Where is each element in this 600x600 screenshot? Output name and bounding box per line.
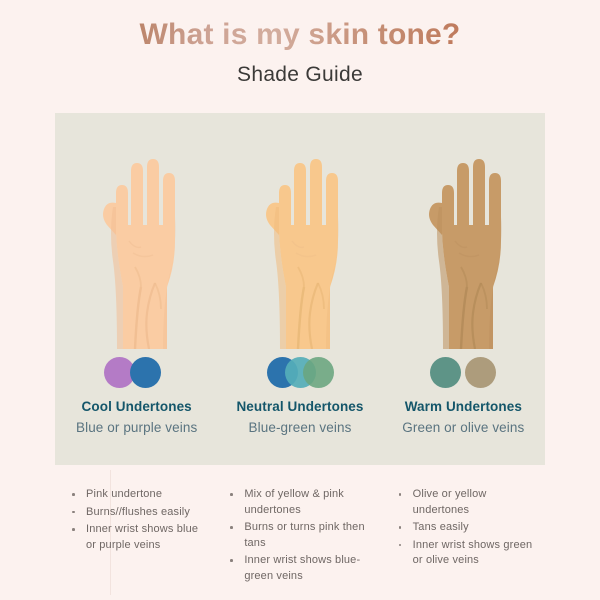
list-item: Inner wrist shows blue or purple veins: [70, 522, 211, 553]
undertone-columns: Cool Undertones Blue or purple veins: [55, 113, 545, 465]
bullet-list-neutral: Mix of yellow & pink undertones Burns or…: [228, 487, 376, 584]
undertone-column-warm[interactable]: Warm Undertones Green or olive veins: [382, 113, 545, 465]
undertone-title-cool: Cool Undertones: [82, 399, 192, 414]
bullet-list-warm: Olive or yellow undertones Tans easily I…: [397, 487, 545, 569]
undertone-column-cool[interactable]: Cool Undertones Blue or purple veins: [55, 113, 218, 465]
undertone-title-warm: Warm Undertones: [405, 399, 522, 414]
list-item: Pink undertone: [70, 487, 211, 503]
page-title: What is my skin tone?: [0, 18, 600, 52]
bullet-column-neutral: Mix of yellow & pink undertones Burns or…: [218, 470, 376, 590]
page-subtitle: Shade Guide: [0, 63, 600, 87]
undertone-subtitle-cool: Blue or purple veins: [76, 420, 197, 435]
swatch-group-cool: [82, 357, 192, 391]
undertone-subtitle-neutral: Blue-green veins: [249, 420, 352, 435]
hand-icon: [415, 137, 511, 349]
swatch-group-warm: [408, 357, 518, 391]
blue-swatch: [130, 357, 161, 388]
bullet-list-cool: Pink undertone Burns//flushes easily Inn…: [70, 487, 218, 553]
bullet-column-cool: Pink undertone Burns//flushes easily Inn…: [55, 470, 218, 590]
list-item: Mix of yellow & pink undertones: [228, 487, 369, 518]
undertone-subtitle-warm: Green or olive veins: [402, 420, 524, 435]
hand-illustration-warm: [415, 137, 511, 349]
undertone-details: Pink undertone Burns//flushes easily Inn…: [55, 470, 545, 590]
olive-swatch: [465, 357, 496, 388]
header: What is my skin tone? Shade Guide: [0, 0, 600, 87]
hand-illustration-neutral: [252, 137, 348, 349]
green-swatch: [430, 357, 461, 388]
hand-icon: [252, 137, 348, 349]
hand-illustration-cool: [89, 137, 185, 349]
list-item: Tans easily: [397, 520, 538, 536]
undertone-title-neutral: Neutral Undertones: [236, 399, 363, 414]
list-item: Inner wrist shows blue-green veins: [228, 553, 369, 584]
bullet-column-warm: Olive or yellow undertones Tans easily I…: [377, 470, 545, 590]
list-item: Burns or turns pink then tans: [228, 520, 369, 551]
hand-icon: [89, 137, 185, 349]
list-item: Burns//flushes easily: [70, 505, 211, 521]
list-item: Inner wrist shows green or olive veins: [397, 538, 538, 569]
swatch-group-neutral: [245, 357, 355, 391]
green-swatch: [303, 357, 334, 388]
list-item: Olive or yellow undertones: [397, 487, 538, 518]
shade-guide-panel: Cool Undertones Blue or purple veins: [55, 113, 545, 465]
undertone-column-neutral[interactable]: Neutral Undertones Blue-green veins: [218, 113, 381, 465]
